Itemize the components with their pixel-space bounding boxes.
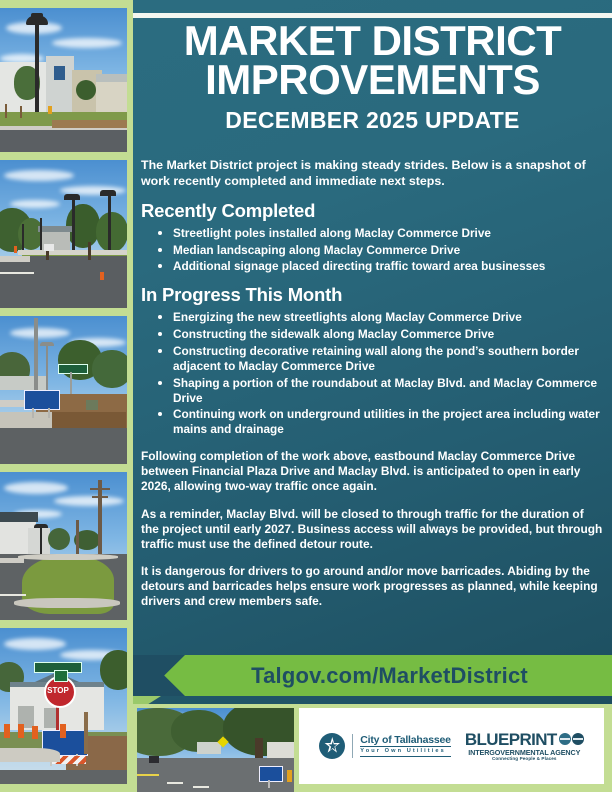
city-logo-name: City of Tallahassee [360,735,451,748]
photo-stop-sign-intersection: STOP [0,628,127,784]
blueprint-logo-tagline: Connecting People & Places [465,757,584,762]
list-item: Median landscaping along Maclay Commerce… [173,242,604,258]
city-of-tallahassee-logo: City of Tallahassee Your Own Utilities [319,733,451,759]
project-url-link[interactable]: Talgov.com/MarketDistrict [171,655,608,696]
blueprint-logo-name: BLUEPRINT [465,731,557,748]
list-item: Additional signage placed directing traf… [173,258,604,274]
blueprint-logo: BLUEPRINT INTERGOVERNMENTAL AGENCY Conne… [465,731,584,762]
paragraph-closure-reminder: As a reminder, Maclay Blvd. will be clos… [141,507,604,552]
photo-business-signage [0,316,127,464]
section-heading-recently-completed: Recently Completed [141,200,604,222]
blueprint-logo-subtitle: INTERGOVERNMENTAL AGENCY [465,749,584,756]
list-item: Constructing decorative retaining wall a… [173,343,604,374]
footer-logos: City of Tallahassee Your Own Utilities B… [299,708,604,784]
page-title-line1: MARKET DISTRICT [133,22,612,61]
section-heading-in-progress: In Progress This Month [141,284,604,306]
intro-paragraph: The Market District project is making st… [141,158,604,190]
list-item: Streetlight poles installed along Maclay… [173,225,604,241]
paragraph-safety-warning: It is dangerous for drivers to go around… [141,564,604,609]
photo-median-landscaping [0,160,127,308]
main-content: The Market District project is making st… [141,158,604,609]
flyer-page: STOP MARKET DISTRICT IMPROVEMENTS DECEMB… [0,0,612,792]
page-title-line2: IMPROVEMENTS [133,61,612,100]
list-in-progress: Energizing the new streetlights along Ma… [141,309,604,437]
photo-tree-lined-road [137,708,294,792]
list-item: Continuing work on underground utilities… [173,406,604,437]
paragraph-opening-timeline: Following completion of the work above, … [141,449,604,494]
city-logo-tagline: Your Own Utilities [360,747,451,757]
logo-divider [352,734,353,758]
photo-streetlight-pole [0,8,127,152]
page-subtitle: DECEMBER 2025 UPDATE [133,107,612,134]
list-recently-completed: Streetlight poles installed along Maclay… [141,225,604,275]
list-item: Energizing the new streetlights along Ma… [173,309,604,325]
header: MARKET DISTRICT IMPROVEMENTS DECEMBER 20… [133,22,612,134]
photo-rail: STOP [0,0,133,792]
list-item: Shaping a portion of the roundabout at M… [173,375,604,406]
star-swoosh-icon [319,733,345,759]
photo-grass-median [0,472,127,620]
blueprint-circles-icon [559,733,584,745]
list-item: Constructing the sidewalk along Maclay C… [173,326,604,342]
